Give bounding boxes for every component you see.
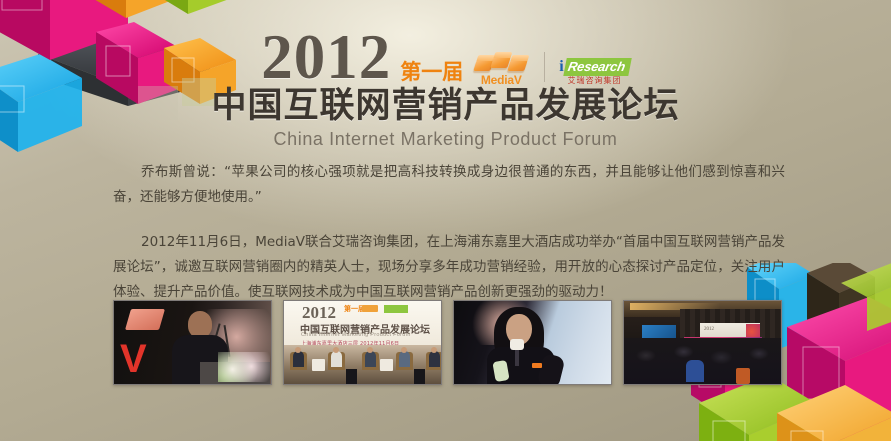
title-top-row: 2012 第一届 MediaV i Research 艾瑞咨询集团 [0,26,891,88]
iresearch-name: Research [563,58,632,76]
photo-female-speaker[interactable] [453,300,612,385]
mediav-logo: MediaV [472,51,530,88]
banner-copy: 乔布斯曾说：“苹果公司的核心强项就是把高科技转换成身边很普通的东西，并且能够让他… [113,160,785,305]
forum-title-chinese: 中国互联网营销产品发展论坛 [0,86,891,127]
mediav-boxes-icon [474,51,528,72]
iresearch-logo: i Research 艾瑞咨询集团 [559,58,629,88]
logo-divider [544,52,545,82]
event-banner: 2012 第一届 MediaV i Research 艾瑞咨询集团 中国互联网营… [0,0,891,441]
iresearch-wordmark: i Research [559,58,629,76]
photo-panel-discussion[interactable]: 2012 第一届 中国互联网营销产品发展论坛 China Internet Ma… [283,300,442,385]
photo2-backdrop-year: 2012 [302,303,336,323]
mediav-wordmark: MediaV [481,74,522,86]
photo2-backdrop-iresearch-logo [384,305,408,313]
photo-speaker-at-podium[interactable]: V [113,300,272,385]
photo-conference-hall[interactable]: 2012 [623,300,782,385]
iresearch-chinese-name: 艾瑞咨询集团 [568,77,622,85]
event-year: 2012 [261,28,391,88]
banner-header: 2012 第一届 MediaV i Research 艾瑞咨询集团 中国互联网营… [0,26,891,152]
photo1-logo-letter: V [120,339,145,379]
photo4-banner-year: 2012 [704,327,714,332]
event-photo-strip: V 2012 第一届 中国互联网营销产品发展论坛 China Internet … [113,300,782,385]
edition-badge: 第一届 [400,62,463,88]
event-summary-paragraph: 2012年11月6日，MediaV联合艾瑞咨询集团，在上海浦东嘉里大酒店成功举办… [113,230,785,305]
photo2-backdrop-title-en: China Internet Marketing Product Forum [301,332,411,338]
forum-title-english: China Internet Marketing Product Forum [0,128,891,151]
iresearch-i-letter: i [559,59,564,75]
photo2-backdrop-mediav-logo [362,305,378,312]
quote-paragraph: 乔布斯曾说：“苹果公司的核心强项就是把高科技转换成身边很普通的东西，并且能够让他… [113,160,785,210]
